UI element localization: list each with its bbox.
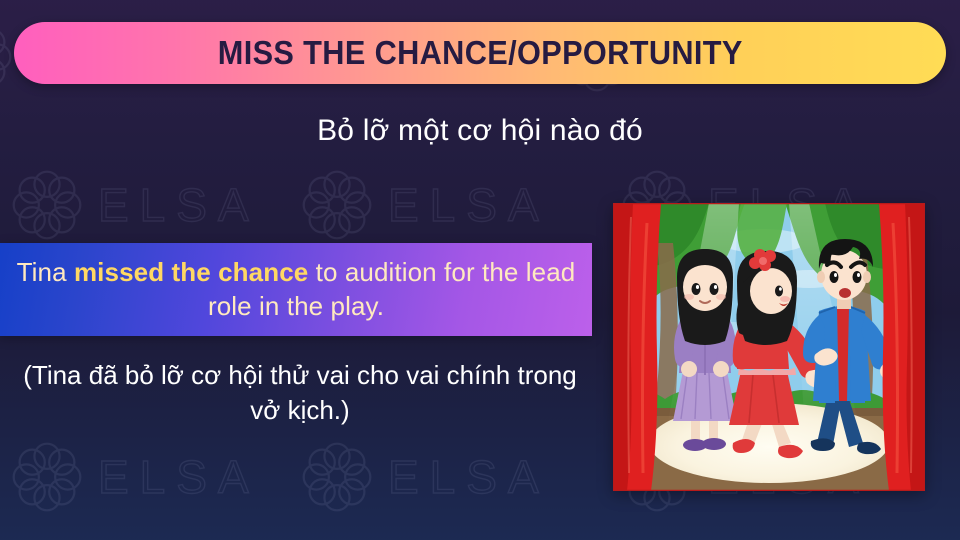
example-highlight: missed the chance <box>74 257 308 287</box>
stage-illustration <box>613 203 925 491</box>
elsa-star-icon <box>300 440 374 514</box>
page-title: MISS THE CHANCE/OPPORTUNITY <box>217 34 742 72</box>
elsa-star-icon <box>0 20 14 94</box>
example-sentence-text: Tina missed the chance to audition for t… <box>0 256 592 323</box>
slide-root: ELSA ELSA ELSA ELSA ELSA <box>0 0 960 540</box>
watermark-label: ELSA <box>98 450 260 504</box>
watermark: ELSA <box>10 440 260 514</box>
elsa-star-icon <box>10 440 84 514</box>
watermark: ELSA <box>300 168 550 242</box>
elsa-star-icon <box>300 168 374 242</box>
watermark-label: ELSA <box>388 178 550 232</box>
stage-illustration-svg <box>613 203 925 491</box>
subtitle-text: Bỏ lỡ một cơ hội nào đó <box>0 114 960 148</box>
watermark: ELSA <box>10 168 260 242</box>
watermark: ELSA <box>300 440 550 514</box>
example-sentence-banner: Tina missed the chance to audition for t… <box>0 243 592 336</box>
example-prefix: Tina <box>17 257 74 287</box>
actor-girl-in-purple <box>673 249 737 451</box>
translation-text: (Tina đã bỏ lỡ cơ hội thử vai cho vai ch… <box>8 358 592 427</box>
red-scarf <box>837 307 849 401</box>
watermark-label: ELSA <box>388 450 550 504</box>
elsa-star-icon <box>10 168 84 242</box>
title-banner: MISS THE CHANCE/OPPORTUNITY <box>14 22 946 84</box>
watermark-label: ELSA <box>98 178 260 232</box>
